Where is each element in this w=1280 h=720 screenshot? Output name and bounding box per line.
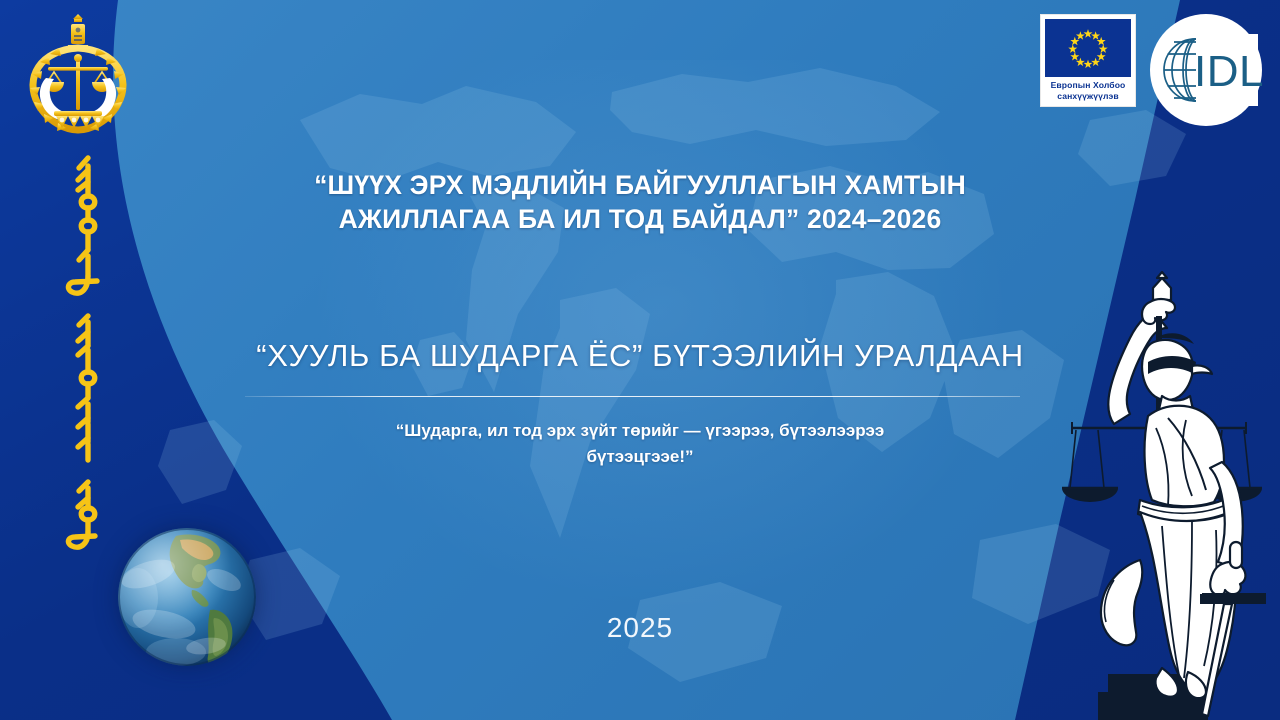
heading-divider (245, 396, 1020, 397)
slogan-line1: “Шударга, ил тод эрх зүйт төрийг — үгээр… (255, 418, 1025, 444)
contest-heading: “ХУУЛЬ БА ШУДАРГА ЁС” БҮТЭЭЛИЙН УРАЛДААН (180, 338, 1100, 374)
slogan-line2: бүтээцгээе!” (255, 444, 1025, 470)
contest-slogan: “Шударга, ил тод эрх зүйт төрийг — үгээр… (255, 418, 1025, 471)
eu-funding-logo: Европын Холбоо санхүүжүүлэв (1040, 14, 1136, 107)
eu-caption-line1: Европын Холбоо (1046, 80, 1130, 91)
mongolian-vertical-script (44, 152, 130, 552)
idlo-logo: IDLO (1150, 14, 1262, 126)
lady-justice-statue (1036, 250, 1266, 720)
poster-canvas: Европын Холбоо санхүүжүүлэв (0, 0, 1280, 720)
earth-globe-image (118, 528, 256, 666)
eu-funding-caption: Европын Холбоо санхүүжүүлэв (1045, 77, 1131, 103)
donor-logos: Европын Холбоо санхүүжүүлэв (1040, 14, 1262, 126)
judicial-emblem-icon (16, 12, 140, 136)
eu-caption-line2: санхүүжүүлэв (1046, 91, 1130, 102)
poster-year: 2025 (440, 612, 840, 644)
idlo-wordmark: IDLO (1194, 47, 1262, 96)
project-title-line2: АЖИЛЛАГАА БА ИЛ ТОД БАЙДАЛ” 2024–2026 (215, 202, 1065, 236)
eu-flag-icon (1045, 19, 1131, 77)
project-title-line1: “ШҮҮХ ЭРХ МЭДЛИЙН БАЙГУУЛЛАГЫН ХАМТЫН (215, 168, 1065, 202)
project-title: “ШҮҮХ ЭРХ МЭДЛИЙН БАЙГУУЛЛАГЫН ХАМТЫН АЖ… (215, 168, 1065, 237)
